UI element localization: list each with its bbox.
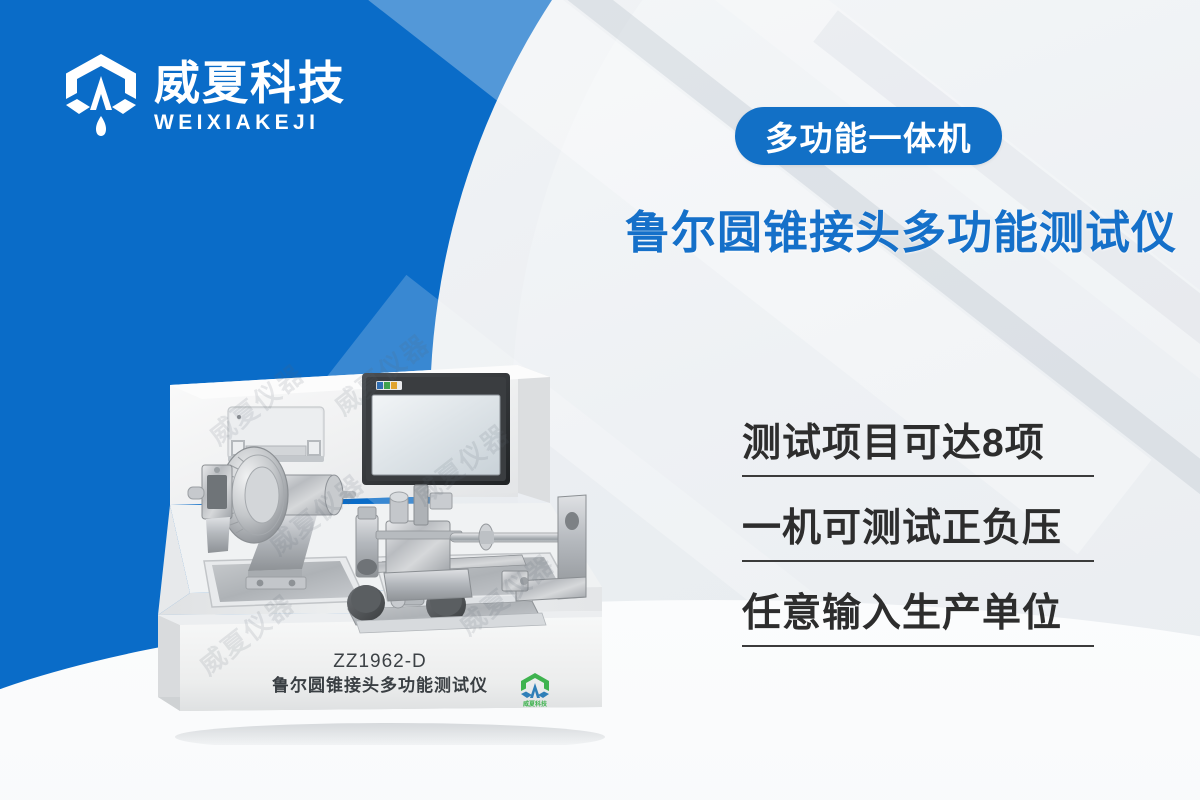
feature-divider	[742, 645, 1094, 647]
category-badge: 多功能一体机	[735, 107, 1002, 165]
brand-name-en: WEIXIAKEJI	[154, 111, 346, 134]
hmi-touchscreen	[362, 373, 510, 485]
feature-item: 测试项目可达8项	[742, 418, 1094, 477]
svg-text:威夏科技: 威夏科技	[523, 700, 548, 708]
feature-divider	[742, 475, 1094, 477]
feature-list: 测试项目可达8项 一机可测试正负压 任意输入生产单位	[742, 418, 1094, 673]
feature-item: 一机可测试正负压	[742, 503, 1094, 562]
machine-name-label: 鲁尔圆锥接头多功能测试仪	[272, 675, 488, 695]
feature-label: 测试项目可达8项	[742, 418, 1094, 475]
hexagon-shield-logo-icon	[62, 52, 140, 142]
brand-name-cn: 威夏科技	[154, 60, 346, 107]
banner-canvas: 威夏科技 WEIXIAKEJI 多功能一体机 鲁尔圆锥接头多功能测试仪 测试项目…	[0, 0, 1200, 800]
feature-label: 任意输入生产单位	[742, 588, 1094, 645]
feature-divider	[742, 560, 1094, 562]
product-photo: ZZ1962-D 鲁尔圆锥接头多功能测试仪 威夏科技 威夏仪器 威夏仪器 威夏仪…	[150, 325, 610, 745]
brand-logo: 威夏科技 WEIXIAKEJI	[62, 52, 346, 142]
page-title: 鲁尔圆锥接头多功能测试仪	[625, 196, 1177, 261]
feature-item: 任意输入生产单位	[742, 588, 1094, 647]
feature-label: 一机可测试正负压	[742, 503, 1094, 560]
hmi-brand-label-icon	[376, 381, 402, 390]
brand-logo-text: 威夏科技 WEIXIAKEJI	[154, 60, 346, 134]
machine-model-label: ZZ1962-D	[333, 651, 427, 672]
